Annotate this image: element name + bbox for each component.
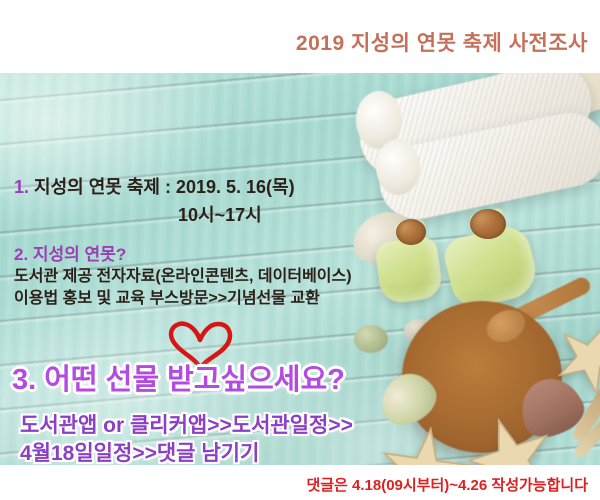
section1-number: 1. <box>14 177 29 197</box>
background-photo: 1. 지성의 연못 축제 : 2019. 5. 16(목) 10시~17시 2.… <box>0 73 600 465</box>
section1-time: 10시~17시 <box>178 205 262 226</box>
text-layer: 1. 지성의 연못 축제 : 2019. 5. 16(목) 10시~17시 2.… <box>0 73 600 465</box>
section3-step-2: 4월18일일정>>댓글 남기기 <box>20 442 259 465</box>
section2-line2: 이용법 홍보 및 교육 부스방문>>기념선물 교환 <box>14 290 320 308</box>
page-title: 2019 지성의 연못 축제 사전조사 <box>296 27 588 57</box>
section2-line1: 도서관 제공 전자자료(온라인콘텐츠, 데이터베이스) <box>14 268 352 286</box>
poster-canvas: 2019 지성의 연못 축제 사전조사 <box>0 0 600 500</box>
section3-step-1: 도서관앱 or 클리커앱>>도서관일정>> <box>20 414 353 438</box>
section2-heading: 2. 지성의 연못? <box>14 245 126 265</box>
section3-heading: 3. 어떤 선물 받고싶으세요? <box>12 364 345 397</box>
footer-note: 댓글은 4.18(09시부터)~4.26 작성가능합니다 <box>306 474 588 495</box>
section1-text: 지성의 연못 축제 : 2019. 5. 16(목) <box>29 177 295 197</box>
section1-line: 1. 지성의 연못 축제 : 2019. 5. 16(목) <box>14 177 295 198</box>
